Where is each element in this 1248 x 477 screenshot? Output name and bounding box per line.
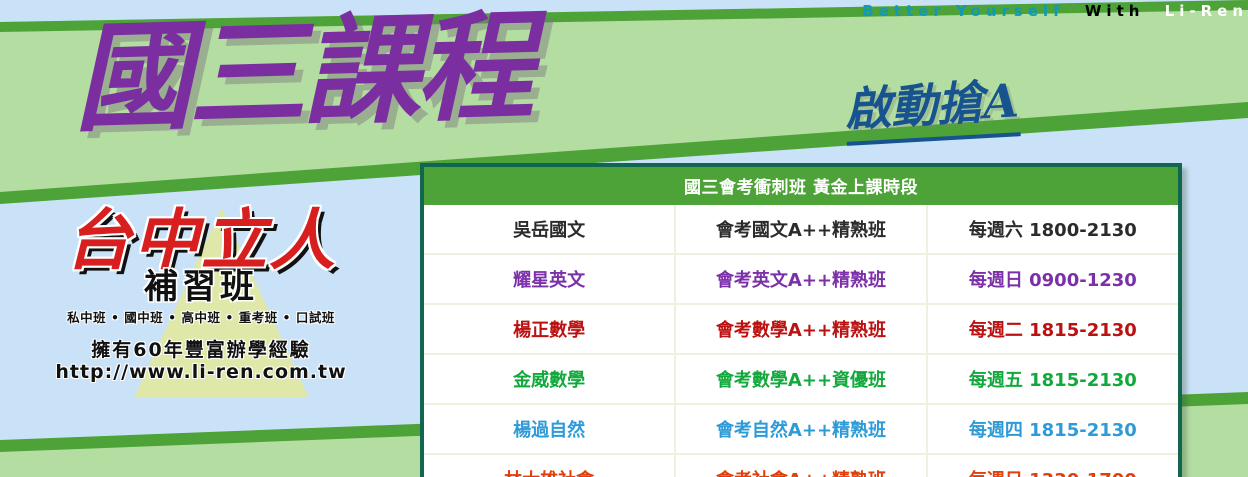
cell-teacher: 林大雄社會 (424, 454, 675, 477)
cell-course: 會考數學A++精熟班 (675, 304, 926, 354)
tagline: Better Yourself With Li-Ren (0, 2, 1248, 20)
cell-course: 會考國文A++精熟班 (675, 205, 926, 254)
cell-teacher: 耀星英文 (424, 254, 675, 304)
tagline-part-2: With (1085, 2, 1145, 20)
table-row: 吳岳國文會考國文A++精熟班每週六 1800-2130 (424, 205, 1178, 254)
cell-time: 每週二 1815-2130 (927, 304, 1178, 354)
cell-teacher: 金威數學 (424, 354, 675, 404)
brand-website-url: http://www.li-ren.com.tw (26, 362, 376, 384)
brand-logo: 台中立人 補習班 私中班 • 國中班 • 高中班 • 重考班 • 口試班 擁有6… (26, 208, 376, 384)
brand-name: 台中立人 (26, 208, 376, 274)
schedule-table: 國三會考衝刺班 黃金上課時段 吳岳國文會考國文A++精熟班每週六 1800-21… (424, 167, 1178, 477)
cell-time: 每週日 1330-1700 (927, 454, 1178, 477)
poster-canvas: Better Yourself With Li-Ren 國三課程 啟動搶A 台中… (0, 0, 1248, 477)
cell-teacher: 楊正數學 (424, 304, 675, 354)
schedule-header-title: 國三會考衝刺班 黃金上課時段 (424, 167, 1178, 205)
table-row: 耀星英文會考英文A++精熟班每週日 0900-1230 (424, 254, 1178, 304)
brand-experience: 擁有60年豐富辦學經驗 (26, 340, 376, 362)
cell-course: 會考數學A++資優班 (675, 354, 926, 404)
table-row: 楊正數學會考數學A++精熟班每週二 1815-2130 (424, 304, 1178, 354)
cell-teacher: 吳岳國文 (424, 205, 675, 254)
cell-course: 會考英文A++精熟班 (675, 254, 926, 304)
cell-time: 每週六 1800-2130 (927, 205, 1178, 254)
table-row: 楊過自然會考自然A++精熟班每週四 1815-2130 (424, 404, 1178, 454)
subtitle-badge: 啟動搶A (843, 64, 1020, 146)
cell-course: 會考社會A++精熟班 (675, 454, 926, 477)
schedule-table-body: 吳岳國文會考國文A++精熟班每週六 1800-2130耀星英文會考英文A++精熟… (424, 205, 1178, 477)
table-row: 金威數學會考數學A++資優班每週五 1815-2130 (424, 354, 1178, 404)
brand-class-list: 私中班 • 國中班 • 高中班 • 重考班 • 口試班 (26, 307, 376, 326)
cell-course: 會考自然A++精熟班 (675, 404, 926, 454)
table-header-row: 國三會考衝刺班 黃金上課時段 (424, 167, 1178, 205)
cell-time: 每週日 0900-1230 (927, 254, 1178, 304)
schedule-table-head: 國三會考衝刺班 黃金上課時段 (424, 167, 1178, 205)
tagline-part-1: Better Yourself (862, 2, 1064, 20)
table-row: 林大雄社會會考社會A++精熟班每週日 1330-1700 (424, 454, 1178, 477)
page-title: 國三課程 (72, 5, 531, 142)
cell-teacher: 楊過自然 (424, 404, 675, 454)
schedule-panel: 國三會考衝刺班 黃金上課時段 吳岳國文會考國文A++精熟班每週六 1800-21… (420, 163, 1182, 477)
cell-time: 每週四 1815-2130 (927, 404, 1178, 454)
cell-time: 每週五 1815-2130 (927, 354, 1178, 404)
tagline-part-3: Li-Ren (1165, 2, 1248, 20)
